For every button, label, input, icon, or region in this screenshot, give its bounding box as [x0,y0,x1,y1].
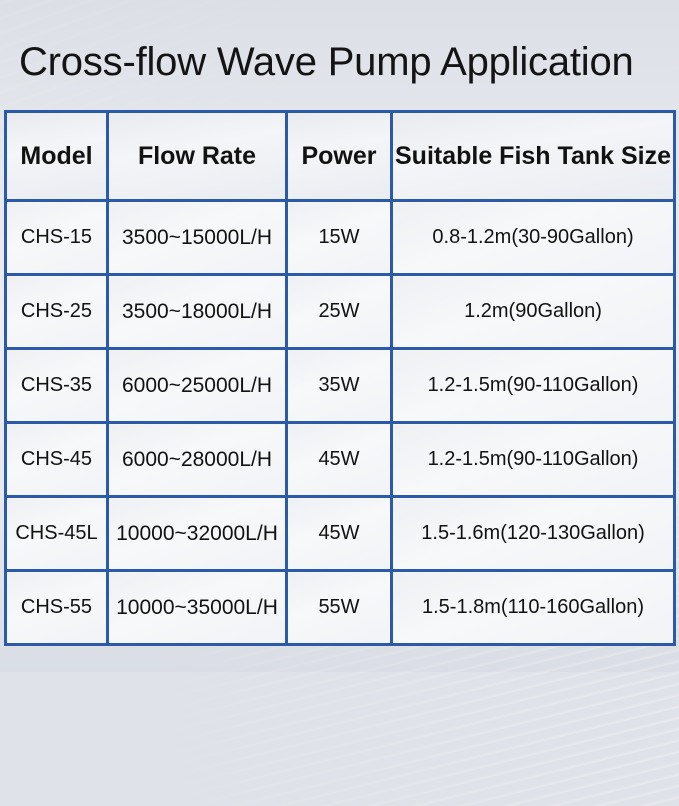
table-row: CHS-45L 10000~32000L/H 45W 1.5-1.6m(120-… [6,497,675,571]
cell-tank-size: 1.5-1.6m(120-130Gallon) [392,497,675,571]
cell-power: 45W [287,423,392,497]
cell-power: 55W [287,571,392,645]
page-title: Cross-flow Wave Pump Application [19,38,634,86]
table-row: CHS-15 3500~15000L/H 15W 0.8-1.2m(30-90G… [6,201,675,275]
column-header-tank-size: Suitable Fish Tank Size [392,112,675,201]
cell-tank-size: 1.5-1.8m(110-160Gallon) [392,571,675,645]
cell-flow-rate: 6000~25000L/H [108,349,287,423]
cell-flow-rate: 6000~28000L/H [108,423,287,497]
table-row: CHS-55 10000~35000L/H 55W 1.5-1.8m(110-1… [6,571,675,645]
cell-flow-rate: 10000~35000L/H [108,571,287,645]
cell-flow-rate: 3500~15000L/H [108,201,287,275]
cell-model: CHS-35 [6,349,108,423]
cell-model: CHS-15 [6,201,108,275]
cell-flow-rate: 3500~18000L/H [108,275,287,349]
table-row: CHS-35 6000~25000L/H 35W 1.2-1.5m(90-110… [6,349,675,423]
cell-model: CHS-45 [6,423,108,497]
cell-tank-size: 1.2m(90Gallon) [392,275,675,349]
table-body: CHS-15 3500~15000L/H 15W 0.8-1.2m(30-90G… [6,201,675,645]
table-header-row: Model Flow Rate Power Suitable Fish Tank… [6,112,675,201]
table-header: Model Flow Rate Power Suitable Fish Tank… [6,112,675,201]
column-header-model: Model [6,112,108,201]
cell-model: CHS-45L [6,497,108,571]
column-header-flow-rate: Flow Rate [108,112,287,201]
cell-tank-size: 1.2-1.5m(90-110Gallon) [392,349,675,423]
column-header-power: Power [287,112,392,201]
cell-power: 35W [287,349,392,423]
cell-power: 15W [287,201,392,275]
page-content: Cross-flow Wave Pump Application Model F… [0,0,679,672]
cell-power: 25W [287,275,392,349]
cell-flow-rate: 10000~32000L/H [108,497,287,571]
cell-model: CHS-25 [6,275,108,349]
cell-model: CHS-55 [6,571,108,645]
table-row: CHS-25 3500~18000L/H 25W 1.2m(90Gallon) [6,275,675,349]
cell-power: 45W [287,497,392,571]
cell-tank-size: 1.2-1.5m(90-110Gallon) [392,423,675,497]
table-row: CHS-45 6000~28000L/H 45W 1.2-1.5m(90-110… [6,423,675,497]
specification-table: Model Flow Rate Power Suitable Fish Tank… [4,110,676,646]
cell-tank-size: 0.8-1.2m(30-90Gallon) [392,201,675,275]
